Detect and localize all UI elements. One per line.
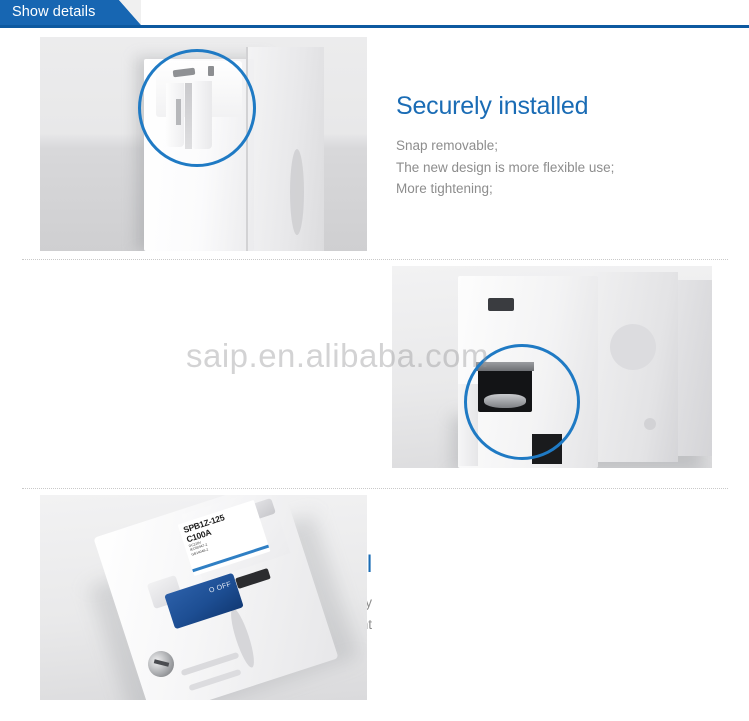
product-photo-tunnel-terminal xyxy=(392,266,712,468)
section-body: Snap removable; The new design is more f… xyxy=(396,135,736,200)
tab-slant-shade xyxy=(119,0,141,25)
product-photo-snap-clip xyxy=(40,37,367,251)
section-easy-to-install: Easy to install Tunnel type terminals pr… xyxy=(0,262,749,474)
body-line: More tightening; xyxy=(396,178,736,200)
section-headline: Securely installed xyxy=(396,91,736,121)
breaker-side-oval xyxy=(290,149,304,235)
highlight-circle-icon xyxy=(138,49,256,167)
breaker-side-disc xyxy=(610,324,656,370)
section-divider xyxy=(22,259,728,260)
show-details-panel: Show details Securely installed Sn xyxy=(0,0,749,721)
body-line: Snap removable; xyxy=(396,135,736,157)
breaker-side-face xyxy=(246,47,324,251)
toggle-label: O OFF xyxy=(208,581,232,595)
breaker-side-dot xyxy=(644,418,656,430)
tab-show-details-label: Show details xyxy=(12,5,95,20)
section-divider xyxy=(22,488,728,489)
body-line: The new design is more flexible use; xyxy=(396,157,736,179)
tab-show-details[interactable]: Show details xyxy=(0,0,119,25)
highlight-circle-icon xyxy=(464,344,580,460)
breaker-top-slot xyxy=(488,298,514,311)
copy-block-securely-installed: Securely installed Snap removable; The n… xyxy=(396,91,736,200)
product-photo-full-breaker: SPB1Z-125 C100A DC220V IEC60947-2 GB1404… xyxy=(40,495,367,700)
details-header-bar: Show details xyxy=(0,0,749,28)
section-pc-retardant-materials: SPB1Z-125 C100A DC220V IEC60947-2 GB1404… xyxy=(0,491,749,703)
header-underline xyxy=(0,25,749,28)
section-securely-installed: Securely installed Snap removable; The n… xyxy=(0,33,749,255)
